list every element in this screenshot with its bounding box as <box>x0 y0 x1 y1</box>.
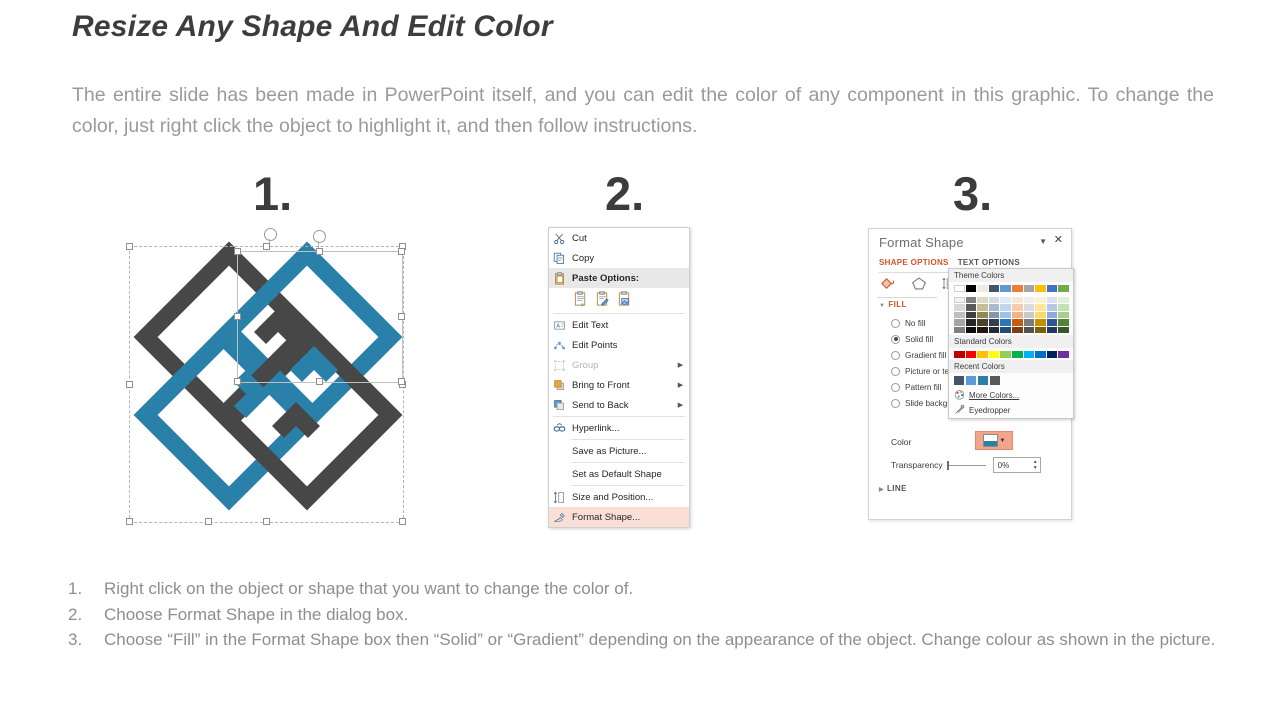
theme-color-variant-swatch[interactable] <box>1035 319 1046 326</box>
context-menu-item-group[interactable]: Group ▶ <box>549 355 689 375</box>
menu-separator <box>571 462 685 463</box>
context-menu-label: Size and Position... <box>572 492 685 503</box>
no-icon-placeholder <box>551 443 568 459</box>
paste-keep-source-formatting-icon[interactable]: a <box>573 291 588 310</box>
theme-colors-base-row[interactable] <box>949 282 1073 294</box>
theme-color-variant-swatch[interactable] <box>954 312 965 319</box>
context-menu-item-copy[interactable]: Copy <box>549 248 689 268</box>
instructions-list: 1. Right click on the object or shape th… <box>68 576 1278 653</box>
theme-color-variant-swatch[interactable] <box>1000 304 1011 311</box>
instruction-number: 3. <box>68 627 104 653</box>
inner-resize-handle-ne[interactable] <box>398 248 405 255</box>
theme-color-variant-swatch[interactable] <box>1035 297 1046 304</box>
context-menu-label: Hyperlink... <box>572 423 685 434</box>
standard-color-swatch[interactable] <box>977 351 988 358</box>
theme-color-variant-swatch[interactable] <box>1024 319 1035 326</box>
context-menu-item-save-as-picture[interactable]: Save as Picture... <box>549 441 689 461</box>
color-label: Color <box>891 437 911 447</box>
resize-handle-w[interactable] <box>126 381 133 388</box>
theme-color-variant-swatch[interactable] <box>1024 297 1035 304</box>
no-icon-placeholder <box>551 466 568 482</box>
transparency-input[interactable]: 0% ▲▼ <box>993 457 1041 473</box>
radio-button[interactable] <box>891 399 900 408</box>
menu-separator <box>571 439 685 440</box>
standard-colors-grid[interactable] <box>949 348 1073 360</box>
theme-color-variant-swatch[interactable] <box>989 327 1000 334</box>
format-pane-tabs[interactable]: SHAPE OPTIONS TEXT OPTIONS <box>879 258 1059 267</box>
theme-color-variant-swatch[interactable] <box>954 327 965 334</box>
theme-color-variant-swatch[interactable] <box>977 312 988 319</box>
step-number-2: 2. <box>605 170 644 217</box>
instruction-text: Choose Format Shape in the dialog box. <box>104 602 1278 628</box>
theme-color-variant-swatch[interactable] <box>989 319 1000 326</box>
theme-color-variant-swatch[interactable] <box>977 327 988 334</box>
context-menu-label: Group <box>572 360 676 371</box>
submenu-arrow-icon: ▶ <box>676 381 685 389</box>
radio-button[interactable] <box>891 319 900 328</box>
more-colors-label: More Colors... <box>969 391 1019 400</box>
theme-color-variant-swatch[interactable] <box>1047 304 1058 311</box>
rotation-handle-outer[interactable] <box>264 228 277 241</box>
radio-button[interactable] <box>891 351 900 360</box>
context-menu-label: Paste Options: <box>572 273 685 284</box>
context-menu-item-edit-points[interactable]: Edit Points <box>549 335 689 355</box>
bring-to-front-icon <box>551 377 568 393</box>
theme-color-variant-swatch[interactable] <box>1047 319 1058 326</box>
slide-canvas: Resize Any Shape And Edit Color The enti… <box>0 0 1280 720</box>
rotation-handle-inner[interactable] <box>313 230 326 243</box>
send-to-back-icon <box>551 397 568 413</box>
theme-color-swatch[interactable] <box>989 285 1000 292</box>
inner-resize-handle-e[interactable] <box>398 313 405 320</box>
resize-handle-s[interactable] <box>263 518 270 525</box>
theme-color-variant-swatch[interactable] <box>954 304 965 311</box>
svg-text:A: A <box>556 323 560 329</box>
color-swatch-icon <box>983 434 998 447</box>
radio-button[interactable] <box>891 367 900 376</box>
submenu-arrow-icon: ▶ <box>676 361 685 369</box>
resize-handle-sw2[interactable] <box>205 518 212 525</box>
theme-color-swatch[interactable] <box>954 285 965 292</box>
theme-color-variant-swatch[interactable] <box>1000 297 1011 304</box>
standard-color-swatch[interactable] <box>989 351 1000 358</box>
theme-color-variant-swatch[interactable] <box>1012 319 1023 326</box>
recent-color-swatch[interactable] <box>978 376 988 385</box>
context-menu[interactable]: Cut Copy Paste Options: a <box>548 227 690 528</box>
resize-handle-sw[interactable] <box>126 518 133 525</box>
color-picker-button[interactable]: ▼ <box>975 431 1013 450</box>
submenu-arrow-icon: ▶ <box>676 401 685 409</box>
theme-color-variant-swatch[interactable] <box>989 312 1000 319</box>
transparency-label: Transparency <box>891 460 943 470</box>
expand-triangle-icon: ▶ <box>879 486 884 493</box>
line-section-header[interactable]: ▶LINE <box>879 484 907 493</box>
instruction-item: 1. Right click on the object or shape th… <box>68 576 1278 602</box>
selection-bounding-box-inner <box>237 251 403 383</box>
chevron-down-icon[interactable]: ▼ <box>1039 237 1047 246</box>
more-colors-button[interactable]: More Colors... <box>949 388 1073 403</box>
theme-color-swatch[interactable] <box>1058 285 1069 292</box>
context-menu-label: Bring to Front <box>572 380 676 391</box>
theme-color-variant-swatch[interactable] <box>954 319 965 326</box>
radio-label: Pattern fill <box>905 383 941 392</box>
context-menu-item-set-as-default-shape[interactable]: Set as Default Shape <box>549 464 689 484</box>
theme-colors-variants-grid[interactable] <box>949 294 1073 336</box>
theme-color-variant-swatch[interactable] <box>1012 304 1023 311</box>
size-position-icon <box>551 489 568 505</box>
paste-use-destination-theme-icon[interactable] <box>595 291 610 310</box>
recent-color-swatch[interactable] <box>954 376 964 385</box>
theme-color-variant-swatch[interactable] <box>1000 319 1011 326</box>
inner-resize-handle-sw[interactable] <box>234 378 241 385</box>
spinner-arrows-icon[interactable]: ▲▼ <box>1033 459 1038 471</box>
inner-resize-handle-s[interactable] <box>316 378 323 385</box>
palette-icon <box>954 389 965 402</box>
tab-text-options[interactable]: TEXT OPTIONS <box>958 258 1020 267</box>
fill-bucket-icon[interactable] <box>879 275 898 294</box>
theme-color-variant-swatch[interactable] <box>989 297 1000 304</box>
theme-color-variant-swatch[interactable] <box>954 297 965 304</box>
menu-separator <box>571 485 685 486</box>
eyedropper-button[interactable]: Eyedropper <box>949 403 1073 418</box>
theme-color-variant-swatch[interactable] <box>966 327 977 334</box>
inner-resize-handle-se[interactable] <box>398 378 405 385</box>
context-menu-item-paste-options[interactable]: Paste Options: <box>549 268 689 288</box>
group-icon <box>551 357 568 373</box>
scissors-icon <box>551 230 568 246</box>
standard-color-swatch[interactable] <box>1035 351 1046 358</box>
theme-color-variant-swatch[interactable] <box>1012 312 1023 319</box>
context-menu-item-bring-to-front[interactable]: Bring to Front ▶ <box>549 375 689 395</box>
menu-separator <box>553 313 685 314</box>
standard-color-swatch[interactable] <box>1058 351 1069 358</box>
context-menu-label: Format Shape... <box>572 512 685 523</box>
chevron-down-icon[interactable]: ▼ <box>1000 438 1006 444</box>
context-menu-item-edit-text[interactable]: A Edit Text <box>549 315 689 335</box>
recent-color-swatch[interactable] <box>966 376 976 385</box>
radio-button-selected[interactable] <box>891 335 900 344</box>
theme-color-variant-swatch[interactable] <box>1012 297 1023 304</box>
theme-color-variant-swatch[interactable] <box>966 297 977 304</box>
resize-handle-se[interactable] <box>399 518 406 525</box>
theme-color-variant-swatch[interactable] <box>1035 304 1046 311</box>
recent-colors-header: Recent Colors <box>949 360 1073 373</box>
paste-picture-icon[interactable] <box>617 291 632 310</box>
standard-color-swatch[interactable] <box>1000 351 1011 358</box>
theme-color-swatch[interactable] <box>1035 285 1046 292</box>
line-section-label: LINE <box>887 484 907 493</box>
icon-separator <box>877 297 937 298</box>
standard-color-swatch[interactable] <box>1024 351 1035 358</box>
page-title: Resize Any Shape And Edit Color <box>72 10 553 44</box>
color-picker-dropdown[interactable]: Theme Colors Standard Colors Recent Colo… <box>948 268 1074 419</box>
theme-color-variant-swatch[interactable] <box>1047 312 1058 319</box>
theme-color-swatch[interactable] <box>966 285 977 292</box>
inner-resize-handle-nw[interactable] <box>234 248 241 255</box>
theme-color-variant-swatch[interactable] <box>1047 327 1058 334</box>
radio-label: Solid fill <box>905 335 933 344</box>
transparency-slider[interactable] <box>948 465 986 466</box>
radio-button[interactable] <box>891 383 900 392</box>
theme-color-swatch[interactable] <box>977 285 988 292</box>
clipboard-icon <box>551 270 568 286</box>
inner-resize-handle-w[interactable] <box>234 313 241 320</box>
eyedropper-label: Eyedropper <box>969 406 1010 415</box>
theme-color-variant-swatch[interactable] <box>966 312 977 319</box>
context-menu-label: Edit Text <box>572 320 685 331</box>
theme-color-variant-swatch[interactable] <box>1058 327 1069 334</box>
theme-color-variant-swatch[interactable] <box>1000 312 1011 319</box>
instruction-number: 2. <box>68 602 104 628</box>
hyperlink-icon <box>551 420 568 436</box>
theme-color-swatch[interactable] <box>1000 285 1011 292</box>
effects-pentagon-icon[interactable] <box>910 275 928 294</box>
instruction-item: 2. Choose Format Shape in the dialog box… <box>68 602 1278 628</box>
instruction-text: Choose “Fill” in the Format Shape box th… <box>104 627 1278 653</box>
theme-color-variant-swatch[interactable] <box>966 319 977 326</box>
theme-color-variant-swatch[interactable] <box>1035 327 1046 334</box>
standard-color-swatch[interactable] <box>1047 351 1058 358</box>
svg-text:a: a <box>581 302 584 307</box>
inner-resize-handle-n[interactable] <box>316 248 323 255</box>
context-menu-item-cut[interactable]: Cut <box>549 228 689 248</box>
shape-preview-panel[interactable] <box>120 228 420 526</box>
resize-handle-n[interactable] <box>263 243 270 250</box>
theme-color-variant-swatch[interactable] <box>1058 319 1069 326</box>
tab-shape-options[interactable]: SHAPE OPTIONS <box>879 258 949 267</box>
page-subtitle: The entire slide has been made in PowerP… <box>72 80 1214 142</box>
theme-color-swatch[interactable] <box>1024 285 1035 292</box>
context-menu-item-format-shape[interactable]: Format Shape... <box>549 507 689 527</box>
transparency-value: 0% <box>998 461 1010 470</box>
fill-section-label: FILL <box>888 300 906 309</box>
collapse-triangle-icon: ▼ <box>879 303 885 309</box>
radio-label: Gradient fill <box>905 351 946 360</box>
instruction-number: 1. <box>68 576 104 602</box>
theme-color-variant-swatch[interactable] <box>977 297 988 304</box>
theme-color-variant-swatch[interactable] <box>1024 304 1035 311</box>
standard-colors-header: Standard Colors <box>949 335 1073 348</box>
format-pane-tool-icons[interactable] <box>879 275 956 294</box>
theme-color-variant-swatch[interactable] <box>989 304 1000 311</box>
recent-color-swatch[interactable] <box>990 376 1000 385</box>
instruction-item: 3. Choose “Fill” in the Format Shape box… <box>68 627 1278 653</box>
format-shape-title: Format Shape <box>879 235 964 250</box>
menu-separator <box>553 416 685 417</box>
theme-color-variant-swatch[interactable] <box>1024 327 1035 334</box>
theme-color-variant-swatch[interactable] <box>1012 327 1023 334</box>
context-menu-label: Edit Points <box>572 340 685 351</box>
theme-color-variant-swatch[interactable] <box>1058 297 1069 304</box>
edit-points-icon <box>551 337 568 353</box>
theme-colors-header: Theme Colors <box>949 269 1073 282</box>
context-menu-label: Save as Picture... <box>572 446 685 457</box>
context-menu-item-hyperlink[interactable]: Hyperlink... <box>549 418 689 438</box>
theme-color-variant-swatch[interactable] <box>1035 312 1046 319</box>
theme-color-variant-swatch[interactable] <box>1047 297 1058 304</box>
radio-label: No fill <box>905 319 925 328</box>
step-number-1: 1. <box>253 170 292 217</box>
context-menu-label: Send to Back <box>572 400 676 411</box>
theme-color-variant-swatch[interactable] <box>977 304 988 311</box>
context-menu-item-send-to-back[interactable]: Send to Back ▶ <box>549 395 689 415</box>
context-menu-label: Cut <box>572 233 685 244</box>
edit-text-icon: A <box>551 317 568 333</box>
recent-colors-row[interactable] <box>949 373 1073 388</box>
close-icon[interactable]: ✕ <box>1054 233 1063 246</box>
eyedropper-icon <box>954 404 965 417</box>
theme-color-swatch[interactable] <box>1012 285 1023 292</box>
standard-color-swatch[interactable] <box>1012 351 1023 358</box>
theme-color-variant-swatch[interactable] <box>1024 312 1035 319</box>
standard-color-swatch[interactable] <box>966 351 977 358</box>
step-number-3: 3. <box>953 170 992 217</box>
context-menu-label: Copy <box>572 253 685 264</box>
paste-options-icon-row[interactable]: a <box>549 288 689 312</box>
resize-handle-nw[interactable] <box>126 243 133 250</box>
instruction-text: Right click on the object or shape that … <box>104 576 1278 602</box>
transparency-row: Transparency 0% ▲▼ <box>891 457 1041 473</box>
theme-color-variant-swatch[interactable] <box>977 319 988 326</box>
theme-color-variant-swatch[interactable] <box>1058 312 1069 319</box>
context-menu-label: Set as Default Shape <box>572 469 685 480</box>
format-shape-icon <box>551 509 568 525</box>
copy-icon <box>551 250 568 266</box>
theme-color-swatch[interactable] <box>1047 285 1058 292</box>
context-menu-item-size-and-position[interactable]: Size and Position... <box>549 487 689 507</box>
theme-color-variant-swatch[interactable] <box>1058 304 1069 311</box>
standard-color-swatch[interactable] <box>954 351 965 358</box>
fill-section-header[interactable]: ▼FILL <box>879 300 907 309</box>
theme-color-variant-swatch[interactable] <box>1000 327 1011 334</box>
theme-color-variant-swatch[interactable] <box>966 304 977 311</box>
